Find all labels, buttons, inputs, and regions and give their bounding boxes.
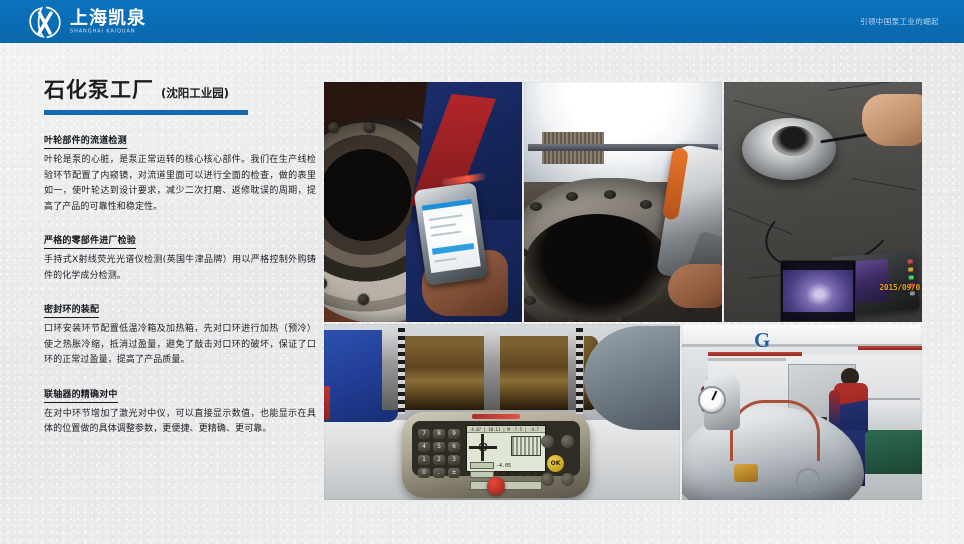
keypad-key: ± xyxy=(448,468,460,478)
keypad-key: 2 xyxy=(433,455,445,465)
photo-laser-shaft-alignment[interactable]: 7 8 9 4 5 6 1 2 3 0 . ± -4.07 | 10.11 | … xyxy=(324,324,680,500)
section-body: 口环安装环节配置低温冷箱及加热箱，先对口环进行加热（预冷）使之热胀冷缩，抵消过盈… xyxy=(44,322,316,369)
header-tagline: 引领中国泵工业的崛起 xyxy=(860,0,939,43)
copper-pipe-shape xyxy=(730,400,820,461)
keypad-key: 4 xyxy=(418,442,430,452)
keypad-key: 1 xyxy=(418,455,430,465)
section-heading: 联轴器的精确对中 xyxy=(44,389,118,403)
page-title: 石化泵工厂 xyxy=(44,78,154,102)
page-title-row: 石化泵工厂 (沈阳工业园) xyxy=(44,78,316,105)
keypad-key: 8 xyxy=(433,429,445,439)
section-heading: 叶轮部件的流道检测 xyxy=(44,135,127,149)
handheld-endoscope-monitor xyxy=(414,182,489,286)
operator-hand-shape xyxy=(862,94,922,146)
wall-letter-sign: G xyxy=(754,328,770,353)
kaiquan-monogram-icon xyxy=(28,6,64,39)
section-heading: 严格的零部件进厂检验 xyxy=(44,235,136,249)
title-underline-rule xyxy=(44,110,248,115)
keypad-key: . xyxy=(433,468,445,478)
section-impeller-inspection: 叶轮部件的流道检测 叶轮是泵的心脏，是泵正常运转的核心核心部件。我们在生产线检验… xyxy=(44,128,316,215)
brand-name-en: SHANGHAI KAIQUAN xyxy=(70,28,146,36)
photo-impeller-flowpath-inspection[interactable] xyxy=(324,82,522,322)
content-column: 石化泵工厂 (沈阳工业园) 叶轮部件的流道检测 叶轮是泵的心脏，是泵正常运转的核… xyxy=(44,78,316,438)
impeller-part-shape xyxy=(742,118,836,180)
tool-nav-left-button xyxy=(541,435,554,448)
photo-datestamp: 2015/09/0 xyxy=(879,283,920,292)
section-body: 在对中环节增加了激光对中仪，可以直接显示数值，也能显示在具体的位置做的具体调整参… xyxy=(44,407,316,438)
keypad-key: 3 xyxy=(448,455,460,465)
photo-endoscope-probe-impeller[interactable]: 2015/09/0 xyxy=(724,82,922,322)
page-subtitle: (沈阳工业园) xyxy=(161,81,229,105)
tool-nav-down-button xyxy=(541,473,554,486)
section-heading: 密封环的装配 xyxy=(44,304,99,318)
tool-brand-strip xyxy=(472,414,520,419)
brand-logo[interactable]: 上海凯泉 SHANGHAI KAIQUAN xyxy=(28,5,146,39)
section-seal-ring-assembly: 密封环的装配 口环安装环节配置低温冷箱及加热箱，先对口环进行加热（预冷）使之热胀… xyxy=(44,297,316,369)
tool-ok-button: OK xyxy=(547,455,564,472)
site-header: 上海凯泉 SHANGHAI KAIQUAN 引领中国泵工业的崛起 xyxy=(0,0,964,43)
pressure-gauge-icon xyxy=(698,386,726,414)
section-body: 手持式X射线荧光光谱仪检测(英国牛津品牌）用以严格控制外购铸件的化学成分检测。 xyxy=(44,253,316,284)
tool-keypad: 7 8 9 4 5 6 1 2 3 0 . ± xyxy=(418,427,462,470)
brand-name-cn: 上海凯泉 xyxy=(70,9,146,28)
section-body: 叶轮是泵的心脏，是泵正常运转的核心核心部件。我们在生产线检验环节配置了内窥镜，对… xyxy=(44,153,316,215)
photo-workshop-pressure-vessel[interactable]: G xyxy=(682,324,922,500)
lcd-vertical-value: -4.05 xyxy=(496,463,511,469)
keypad-key: 9 xyxy=(448,429,460,439)
lcd-value-pair: -4.07 | -4.20 xyxy=(504,472,543,478)
photo-xrf-analyzer-casting-check[interactable] xyxy=(524,82,722,322)
lcd-header-values: -4.07 | 10.11 | M -7.5 | -4.7 xyxy=(469,427,539,432)
photo-grid: 2015/09/0 7 8 9 4 xyxy=(324,82,922,500)
section-incoming-parts-check: 严格的零部件进厂检验 手持式X射线荧光光谱仪检测(英国牛津品牌）用以严格控制外购… xyxy=(44,228,316,284)
keypad-key: 7 xyxy=(418,429,430,439)
operator-hand-shape xyxy=(668,264,722,308)
tool-nav-up-button xyxy=(561,435,574,448)
tool-nav-right-button xyxy=(561,473,574,486)
endoscope-view-inset xyxy=(780,260,856,322)
keypad-key: 0 xyxy=(418,468,430,478)
tool-power-button xyxy=(487,477,505,495)
section-coupling-alignment: 联轴器的精确对中 在对中环节增加了激光对中仪，可以直接显示数值，也能显示在具体的… xyxy=(44,382,316,438)
keypad-key: 5 xyxy=(433,442,445,452)
keypad-key: 6 xyxy=(448,442,460,452)
laser-alignment-tool: 7 8 9 4 5 6 1 2 3 0 . ± -4.07 | 10.11 | … xyxy=(402,412,590,498)
tool-lcd-display: -4.07 | 10.11 | M -7.5 | -4.7 -4.05 -4.0… xyxy=(466,425,546,472)
